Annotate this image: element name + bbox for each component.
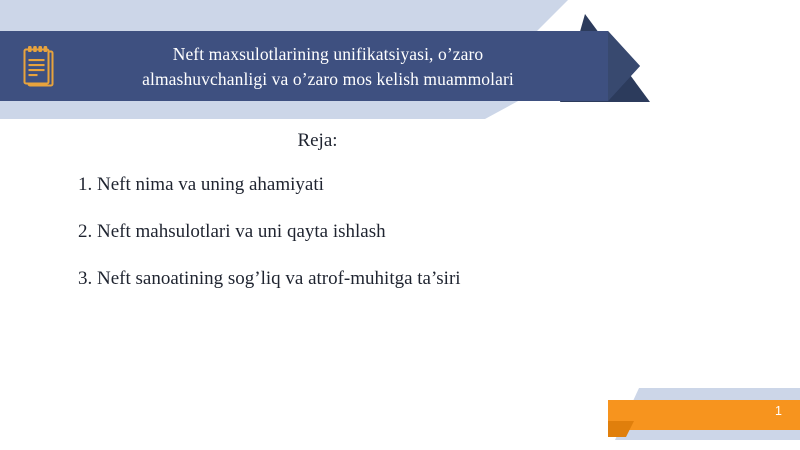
slide-body: Reja: 1. Neft nima va uning ahamiyati 2.… bbox=[0, 130, 800, 315]
notepad-icon bbox=[21, 43, 55, 89]
list-item: 3. Neft sanoatining sog’liq va atrof-muh… bbox=[0, 268, 800, 290]
slide-title-line-1: Neft maxsulotlarining unifikatsiyasi, o’… bbox=[173, 42, 484, 67]
slide-title-line-2: almashuvchanligi va o’zaro mos kelish mu… bbox=[142, 67, 514, 92]
agenda-list: 1. Neft nima va uning ahamiyati 2. Neft … bbox=[0, 174, 800, 290]
presentation-slide: Neft maxsulotlarining unifikatsiyasi, o’… bbox=[0, 0, 800, 450]
header-light-band-top bbox=[0, 0, 600, 32]
list-item: 2. Neft mahsulotlari va uni qayta ishlas… bbox=[0, 221, 800, 243]
list-item: 1. Neft nima va uning ahamiyati bbox=[0, 174, 800, 196]
footer-orange-ribbon bbox=[608, 400, 800, 430]
page-number: 1 bbox=[775, 404, 782, 418]
slide-title: Neft maxsulotlarining unifikatsiyasi, o’… bbox=[78, 36, 578, 98]
header-light-band-bottom bbox=[0, 100, 520, 119]
agenda-heading: Reja: bbox=[0, 130, 800, 152]
